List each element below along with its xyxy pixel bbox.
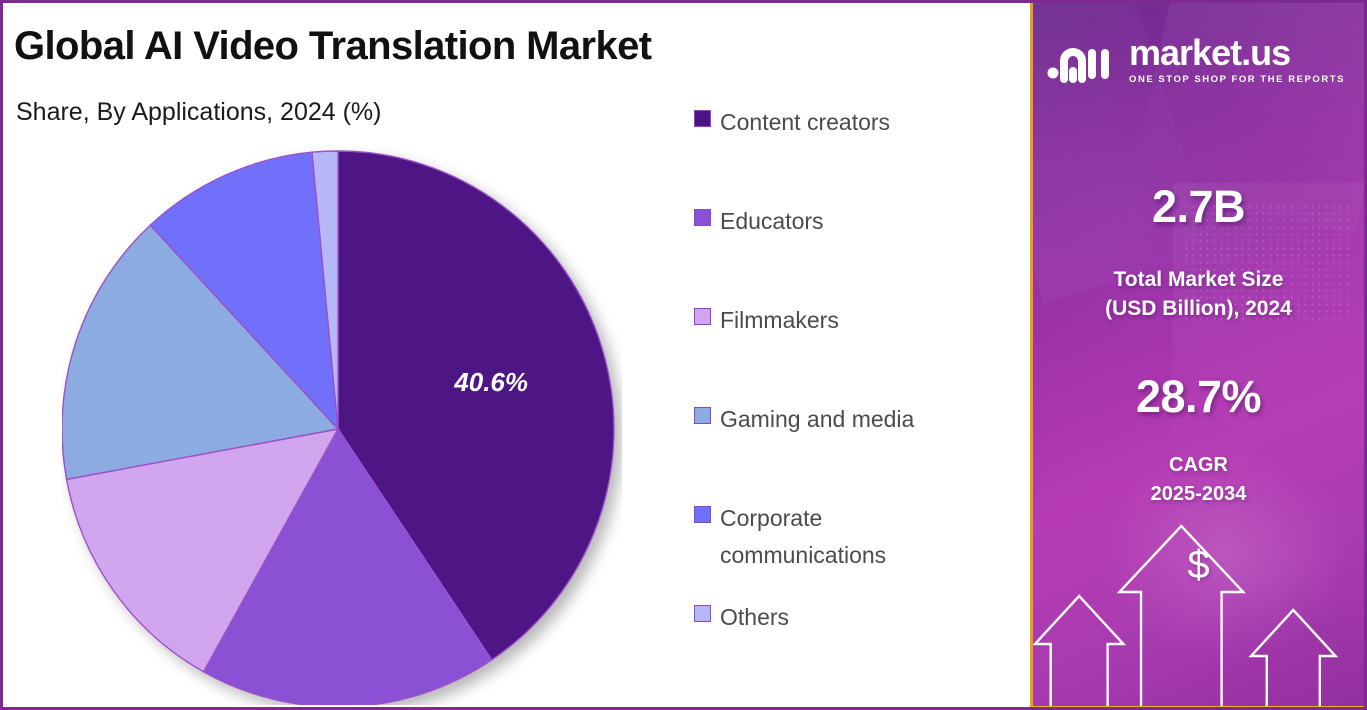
legend-item-label: Corporate communications (720, 500, 886, 574)
legend-item-gaming-and-media[interactable]: Gaming and media (694, 401, 1014, 500)
legend-swatch-icon (694, 506, 711, 523)
chart-panel: Global AI Video Translation Market Share… (0, 0, 1030, 710)
pie-slice-label: 40.6% (453, 367, 528, 397)
market-size-stat: 2.7B (1033, 181, 1364, 233)
legend-item-label: Content creators (720, 104, 890, 141)
legend-swatch-icon (694, 605, 711, 622)
pie-slices (62, 151, 614, 705)
legend-item-filmmakers[interactable]: Filmmakers (694, 302, 1014, 401)
market-size-value: 2.7B (1033, 181, 1364, 233)
cagr-value: 28.7% (1033, 371, 1364, 423)
cagr-caption: CAGR 2025-2034 (1033, 451, 1364, 509)
legend-swatch-icon (694, 407, 711, 424)
chart-legend: Content creators Educators Filmmakers Ga… (694, 104, 1014, 698)
legend-swatch-icon (694, 209, 711, 226)
market-size-caption: Total Market Size (USD Billion), 2024 (1033, 265, 1364, 323)
legend-item-label: Gaming and media (720, 401, 914, 438)
logo-mark-icon (1047, 35, 1119, 85)
chart-subtitle: Share, By Applications, 2024 (%) (16, 98, 381, 127)
legend-item-others[interactable]: Others (694, 599, 1014, 698)
cagr-stat: 28.7% (1033, 371, 1364, 423)
pie-chart: 40.6% (62, 145, 622, 705)
legend-item-corporate-communications[interactable]: Corporate communications (694, 500, 1014, 599)
market-us-logo: market.us ONE STOP SHOP FOR THE REPORTS (1047, 29, 1347, 91)
page-title: Global AI Video Translation Market (14, 24, 652, 69)
legend-item-content-creators[interactable]: Content creators (694, 104, 1014, 203)
legend-item-label: Filmmakers (720, 302, 839, 339)
legend-item-label: Educators (720, 203, 824, 240)
market-size-caption-wrap: Total Market Size (USD Billion), 2024 (1033, 265, 1364, 323)
legend-item-educators[interactable]: Educators (694, 203, 1014, 302)
infographic-page: Global AI Video Translation Market Share… (0, 0, 1367, 710)
brand-panel: market.us ONE STOP SHOP FOR THE REPORTS … (1030, 0, 1367, 710)
legend-swatch-icon (694, 110, 711, 127)
legend-swatch-icon (694, 308, 711, 325)
logo-name: market.us (1129, 35, 1345, 71)
pie-chart-svg: 40.6% (62, 145, 622, 705)
growth-arrows-icon (1033, 516, 1364, 706)
logo-tagline: ONE STOP SHOP FOR THE REPORTS (1129, 74, 1345, 85)
legend-item-label: Others (720, 599, 789, 636)
cagr-caption-wrap: CAGR 2025-2034 (1033, 451, 1364, 509)
